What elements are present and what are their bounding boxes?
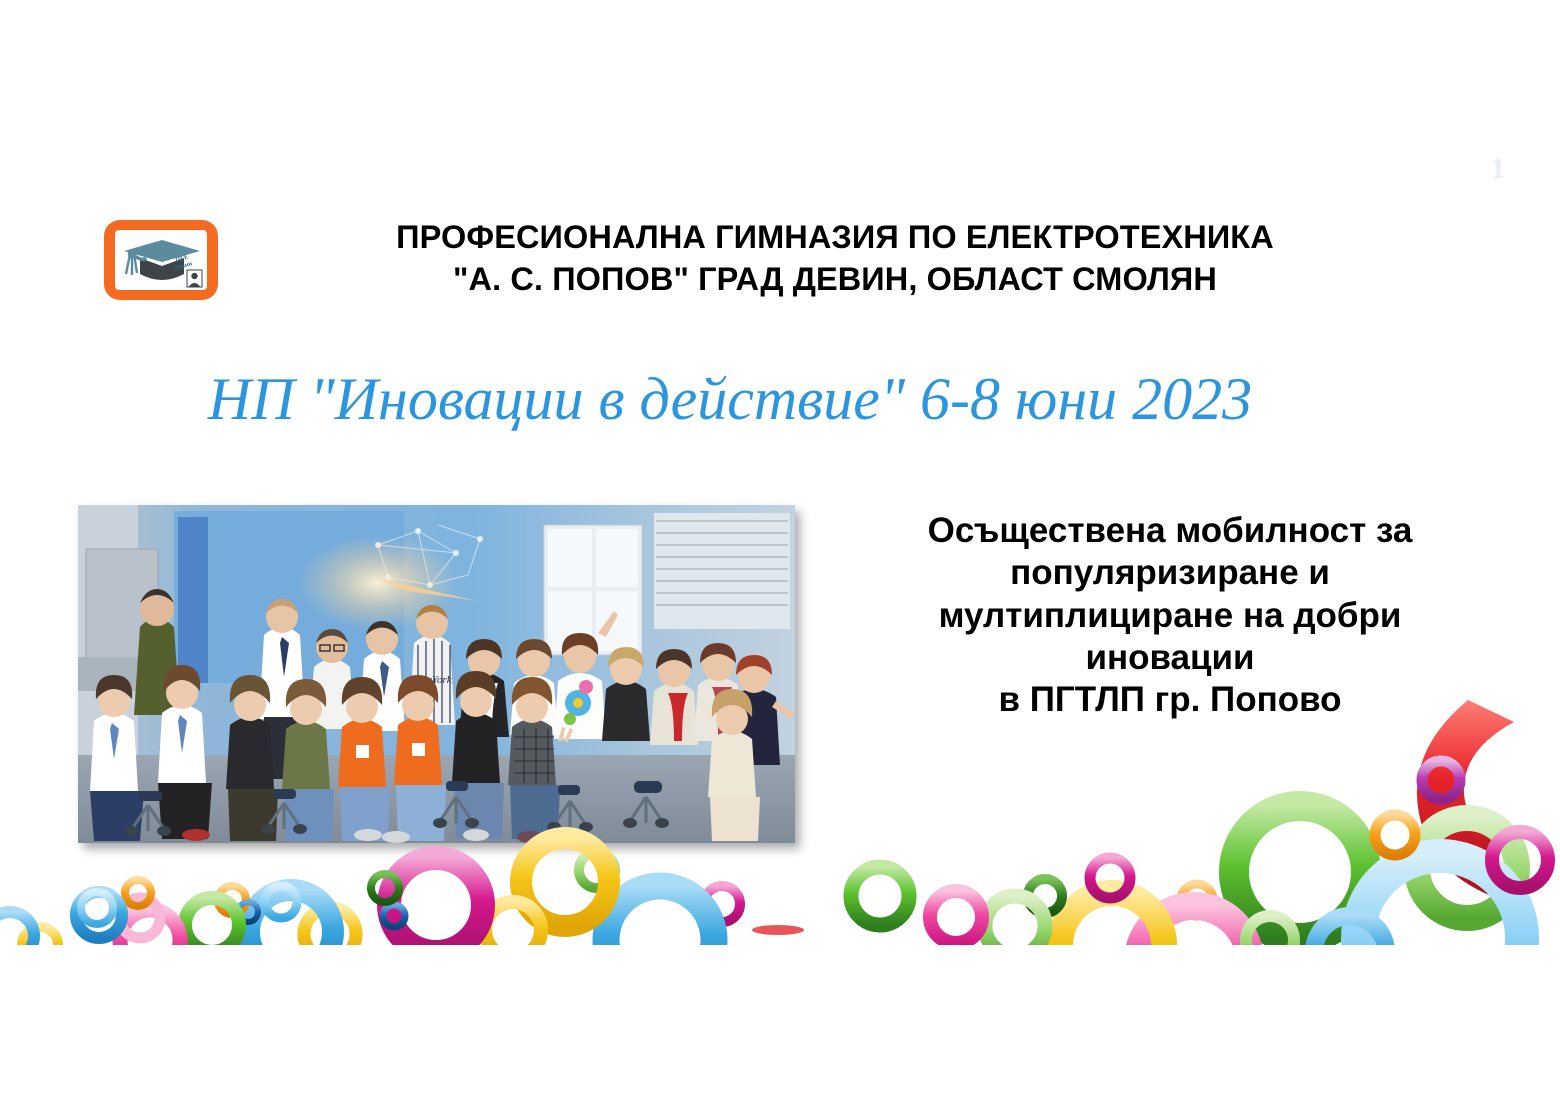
group-photo-image: NewYork xyxy=(78,505,795,843)
school-title-line-2: "А. С. ПОПОВ" ГРАД ДЕВИН, ОБЛАСТ СМОЛЯН xyxy=(255,258,1415,300)
school-logo: ПГЕ Девин xyxy=(102,218,220,302)
school-title: ПРОФЕСИОНАЛНА ГИМНАЗИЯ ПО ЕЛЕКТРОТЕХНИКА… xyxy=(255,216,1415,301)
description-line-3: мултиплициране на добри xyxy=(845,595,1495,637)
school-title-line-1: ПРОФЕСИОНАЛНА ГИМНАЗИЯ ПО ЕЛЕКТРОТЕХНИКА xyxy=(396,219,1274,255)
mobility-description: Осъществена мобилност за популяризиране … xyxy=(845,510,1495,722)
description-line-5: в ПГТЛП гр. Попово xyxy=(845,679,1495,721)
programme-heading: НП "Иновации в действие" 6-8 юни 2023 xyxy=(70,368,1390,431)
description-line-2: популяризиране и xyxy=(845,552,1495,594)
group-photo: NewYork xyxy=(78,505,795,843)
description-line-4: иновации xyxy=(845,637,1495,679)
graduation-cap-logo-icon: ПГЕ Девин xyxy=(102,218,220,302)
page-number: 1 xyxy=(1478,152,1518,186)
person xyxy=(602,647,650,741)
description-line-1: Осъществена мобилност за xyxy=(845,510,1495,552)
slide-root: 1 ПГЕ Девин ПРОФЕСИОНАЛНА ГИМНАЗИЯ ПО ЕЛ… xyxy=(0,0,1560,1103)
person xyxy=(650,649,698,745)
